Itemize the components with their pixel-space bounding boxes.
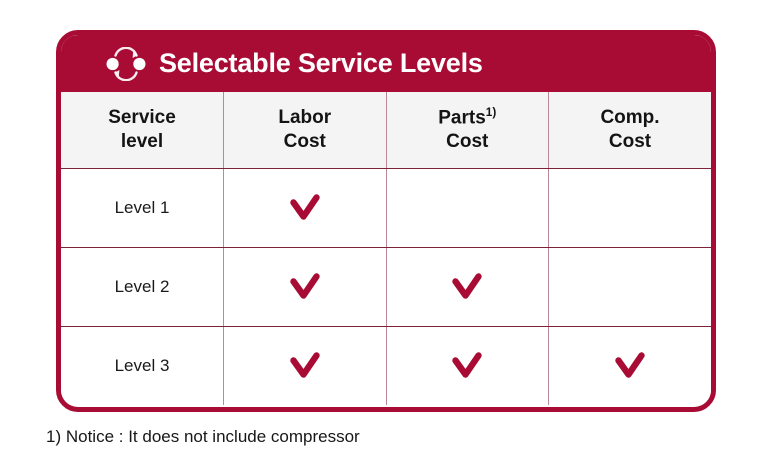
column-header-line1-text: Parts	[438, 107, 486, 128]
cell-parts-cost	[386, 327, 549, 406]
level-label: Level 2	[115, 277, 170, 296]
table-row: Level 2	[61, 248, 711, 327]
service-levels-table: Service level Labor Cost Parts1) Cost Co…	[61, 92, 711, 405]
service-levels-page: Selectable Service Levels Service level …	[0, 0, 768, 468]
check-icon	[288, 351, 322, 381]
column-header-line1: Comp.	[549, 106, 711, 130]
card-header: Selectable Service Levels	[61, 35, 711, 92]
check-icon	[450, 351, 484, 381]
cell-service-level: Level 2	[61, 248, 224, 327]
selectable-service-levels-card: Selectable Service Levels Service level …	[56, 30, 716, 412]
table-row: Level 3	[61, 327, 711, 406]
cell-service-level: Level 1	[61, 169, 224, 248]
cell-parts-cost	[386, 169, 549, 248]
cell-labor-cost	[224, 327, 387, 406]
column-header-parts-cost: Parts1) Cost	[386, 92, 549, 169]
service-cycle-icon	[103, 47, 149, 81]
column-header-service-level: Service level	[61, 92, 224, 169]
check-icon	[450, 272, 484, 302]
column-header-line2: Cost	[387, 130, 549, 154]
check-icon	[613, 351, 647, 381]
column-header-line2: Cost	[549, 130, 711, 154]
cell-comp-cost	[549, 327, 712, 406]
cell-service-level: Level 3	[61, 327, 224, 406]
footnote-text: 1) Notice : It does not include compress…	[46, 427, 360, 447]
check-icon	[288, 193, 322, 223]
table-header-row-group: Service level Labor Cost Parts1) Cost Co…	[61, 92, 711, 169]
table-body: Level 1 Level 2	[61, 169, 711, 406]
column-header-line1: Service	[61, 106, 223, 130]
page-title: Selectable Service Levels	[159, 50, 483, 77]
level-label: Level 3	[115, 356, 170, 375]
check-icon	[288, 272, 322, 302]
table-row: Level 1	[61, 169, 711, 248]
cell-parts-cost	[386, 248, 549, 327]
column-header-line2: Cost	[224, 130, 386, 154]
table-header-row: Service level Labor Cost Parts1) Cost Co…	[61, 92, 711, 169]
column-header-line1: Labor	[224, 106, 386, 130]
cell-labor-cost	[224, 248, 387, 327]
cell-comp-cost	[549, 169, 712, 248]
footnote-marker: 1)	[486, 106, 496, 119]
column-header-comp-cost: Comp. Cost	[549, 92, 712, 169]
level-label: Level 1	[115, 198, 170, 217]
column-header-line2: level	[61, 130, 223, 154]
cell-labor-cost	[224, 169, 387, 248]
cell-comp-cost	[549, 248, 712, 327]
column-header-line1: Parts1)	[387, 106, 549, 130]
column-header-labor-cost: Labor Cost	[224, 92, 387, 169]
